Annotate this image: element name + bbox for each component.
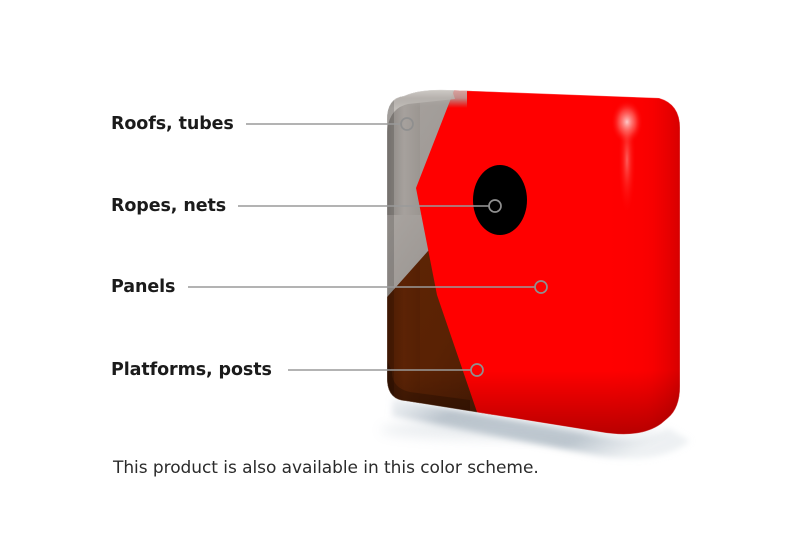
product-illustration	[0, 0, 800, 533]
illustration-stage: Roofs, tubes Ropes, nets Panels Platform…	[0, 0, 800, 533]
marker-panels	[535, 281, 547, 293]
callout-label-panels: Panels	[111, 279, 175, 297]
callout-markers	[401, 118, 547, 376]
product-drop-shadow	[380, 398, 690, 458]
marker-ropes-nets	[489, 200, 501, 212]
callout-label-ropes-nets: Ropes, nets	[111, 198, 226, 216]
marker-roofs-tubes	[401, 118, 413, 130]
aperture-ellipse	[473, 165, 527, 235]
availability-caption: This product is also available in this c…	[113, 458, 539, 478]
product-body	[380, 80, 700, 440]
marker-platforms-posts	[471, 364, 483, 376]
callout-label-platforms-posts: Platforms, posts	[111, 362, 272, 380]
callout-leaders	[188, 124, 535, 370]
callout-label-roofs-tubes: Roofs, tubes	[111, 116, 234, 134]
